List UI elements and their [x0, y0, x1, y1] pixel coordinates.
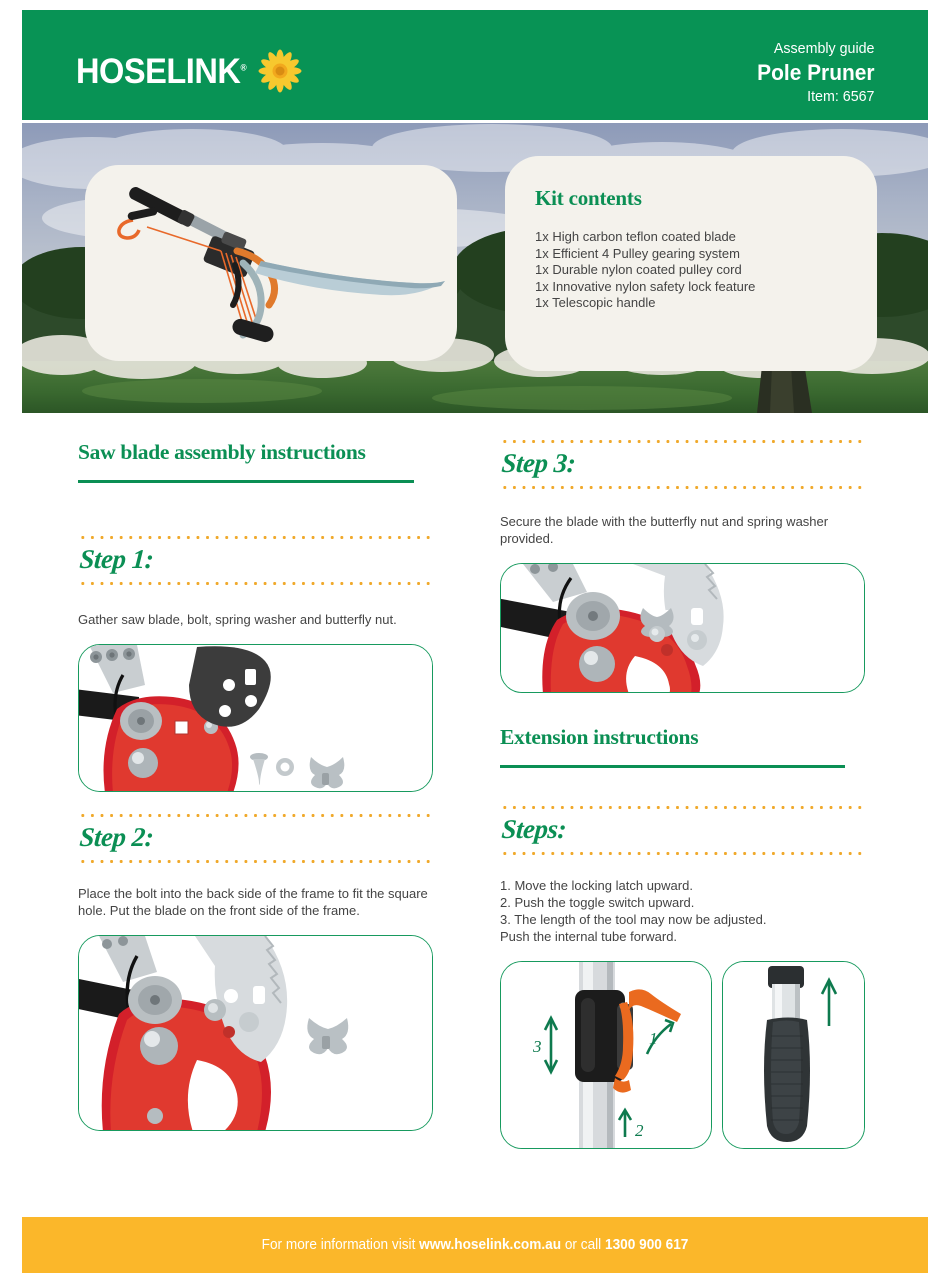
- arrow-label-1: 1: [649, 1029, 658, 1048]
- extension-diagram-2: [722, 961, 865, 1149]
- step-2-photo: [78, 935, 433, 1131]
- page-header: HOSELINK®: [22, 10, 928, 120]
- extension-diagram-1: 1 2 3: [500, 961, 712, 1149]
- extension-steps-list: 1. Move the locking latch upward. 2. Pus…: [500, 877, 865, 945]
- list-item: 1x Innovative nylon safety lock feature: [535, 279, 843, 296]
- list-item: 1. Move the locking latch upward.: [500, 877, 865, 894]
- kit-contents-title: Kit contents: [535, 186, 843, 211]
- list-item: 1x High carbon teflon coated blade: [535, 229, 843, 246]
- step-3-text: Secure the blade with the butterfly nut …: [500, 513, 865, 547]
- kit-contents-panel: Kit contents 1x High carbon teflon coate…: [505, 156, 877, 371]
- footer-phone[interactable]: 1300 900 617: [605, 1237, 688, 1253]
- locking-latch-diagram: 1 2 3: [501, 962, 712, 1149]
- header-meta: Assembly guide Pole Pruner Item: 6567: [751, 38, 874, 107]
- telescopic-handle-diagram: [723, 962, 865, 1149]
- registered-mark-icon: ®: [240, 62, 246, 72]
- product-image-panel: [85, 165, 457, 361]
- washer-icon: [276, 758, 294, 776]
- page-footer: For more information visit www.hoselink.…: [22, 1217, 928, 1273]
- extension-steps-label: Steps:: [500, 809, 868, 852]
- list-item: 2. Push the toggle switch upward.: [500, 894, 865, 911]
- saw-blade-section: Saw blade assembly instructions Step 1: …: [78, 440, 433, 1131]
- sunflower-icon: [257, 48, 303, 94]
- footer-middle: or call: [561, 1237, 605, 1253]
- logo-wordmark: HOSELINK®: [76, 54, 246, 89]
- dotted-divider: [500, 486, 865, 489]
- step1-parts-photo: [79, 645, 433, 792]
- footer-website[interactable]: www.hoselink.com.au: [419, 1237, 561, 1253]
- item-number: Item: 6567: [757, 86, 874, 107]
- assembly-guide-page: HOSELINK®: [0, 0, 950, 1283]
- section-title-saw-blade: Saw blade assembly instructions: [78, 440, 433, 465]
- footer-contact-text: For more information visit www.hoselink.…: [262, 1237, 689, 1253]
- dotted-divider: [78, 582, 433, 585]
- list-item: 1x Telescopic handle: [535, 295, 843, 312]
- dotted-divider: [500, 852, 865, 855]
- step-1-photo: [78, 644, 433, 792]
- list-item: 1x Durable nylon coated pulley cord: [535, 262, 843, 279]
- dotted-divider: [78, 860, 433, 863]
- document-type: Assembly guide: [757, 38, 874, 59]
- right-column: Step 3: Secure the blade with the butter…: [500, 440, 865, 1149]
- step2-blade-mounted-photo: [79, 936, 433, 1131]
- step-2-text: Place the bolt into the back side of the…: [78, 885, 433, 919]
- hero-banner: Kit contents 1x High carbon teflon coate…: [22, 123, 928, 413]
- step-3-photo: [500, 563, 865, 693]
- logo-text: HOSELINK: [76, 52, 240, 91]
- footer-prefix: For more information visit: [262, 1237, 420, 1253]
- step-1-label: Step 1:: [78, 539, 436, 582]
- step-1-text: Gather saw blade, bolt, spring washer an…: [78, 611, 433, 628]
- list-item: Push the internal tube forward.: [500, 928, 865, 945]
- product-title: Pole Pruner: [757, 59, 874, 86]
- list-item: 3. The length of the tool may now be adj…: [500, 911, 865, 928]
- list-item: 1x Efficient 4 Pulley gearing system: [535, 246, 843, 263]
- arrow-label-2: 2: [635, 1121, 644, 1140]
- step-3-label: Step 3:: [500, 443, 868, 486]
- brand-logo: HOSELINK®: [76, 48, 303, 94]
- step-2-label: Step 2:: [78, 817, 436, 860]
- arrow-label-3: 3: [532, 1037, 542, 1056]
- kit-contents-list: 1x High carbon teflon coated blade 1x Ef…: [535, 229, 843, 312]
- step3-butterfly-nut-photo: [501, 564, 865, 693]
- pole-pruner-product-photo: [85, 165, 457, 361]
- section-title-extension: Extension instructions: [500, 725, 865, 750]
